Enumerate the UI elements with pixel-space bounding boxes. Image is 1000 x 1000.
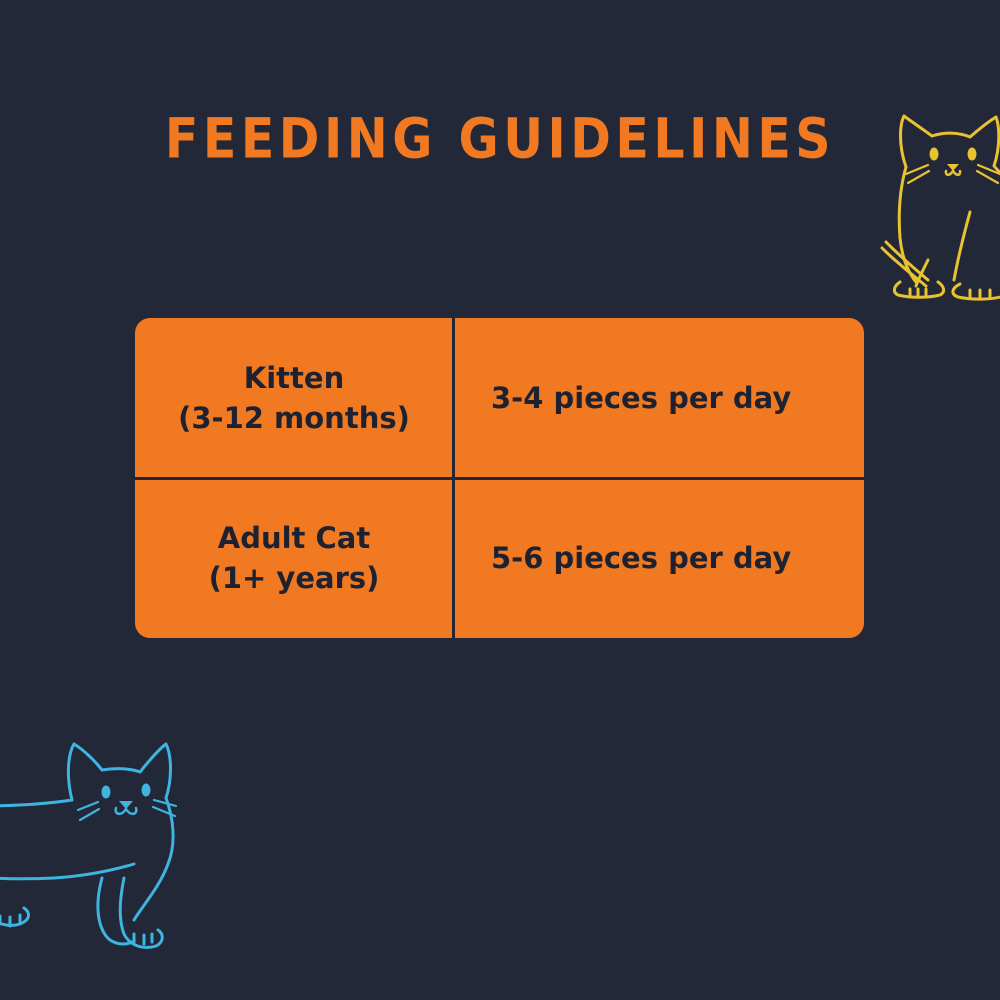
table-cell-portion: 3-4 pieces per day [453,318,864,478]
table-cell-portion: 5-6 pieces per day [453,478,864,638]
cat-cyan-walking-icon [0,692,238,960]
page-title: FEEDING GUIDELINES [0,105,1000,174]
table-cell-age-group: Kitten (3-12 months) [135,318,453,478]
table-row: Kitten (3-12 months) 3-4 pieces per day [135,318,864,478]
feeding-guidelines-table: Kitten (3-12 months) 3-4 pieces per day … [135,318,864,638]
table-cell-age-group: Adult Cat (1+ years) [135,478,453,638]
age-group-primary: Adult Cat [209,518,380,558]
age-group-primary: Kitten [178,358,410,398]
portion-text: 5-6 pieces per day [491,538,791,578]
age-group-range: (1+ years) [209,558,380,598]
poster-canvas: FEEDING GUIDELINES Kitten (3-12 months) … [0,0,1000,1000]
age-group-range: (3-12 months) [178,398,410,438]
portion-text: 3-4 pieces per day [491,378,791,418]
table-row: Adult Cat (1+ years) 5-6 pieces per day [135,478,864,638]
